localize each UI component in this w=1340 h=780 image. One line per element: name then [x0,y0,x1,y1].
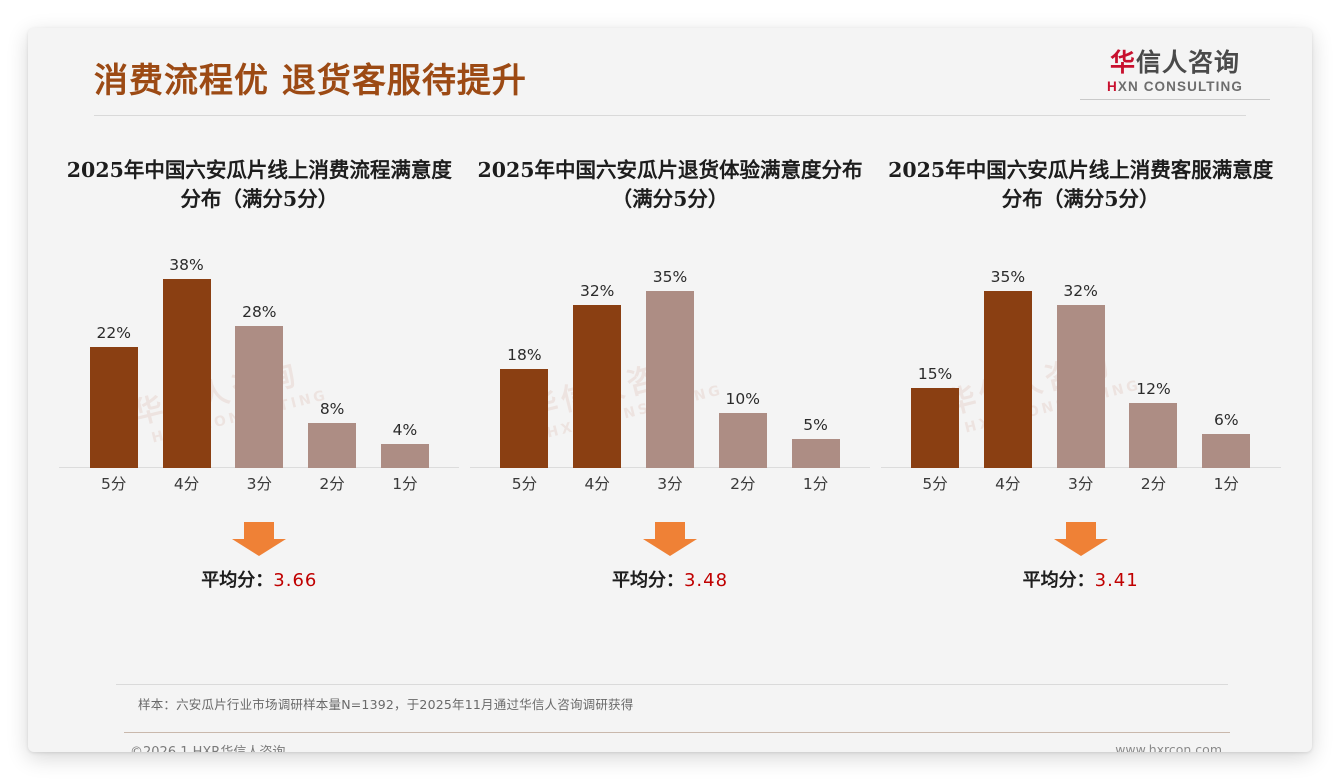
bar-item[interactable]: 12% [1119,256,1188,468]
x-axis-labels: 5分 4分 3分 2分 1分 [488,472,852,500]
average-label: 平均分： [612,570,684,591]
x-tick-label: 2分 [298,472,367,500]
bar[interactable] [163,279,211,468]
average-score: 平均分：3.48 [470,566,870,592]
bar-value-label: 32% [580,282,614,300]
bar[interactable] [719,413,767,468]
bar-value-label: 28% [242,303,276,321]
chart-title: 2025年中国六安瓜片退货体验满意度分布（满分5分） [470,156,870,214]
bar[interactable] [235,326,283,468]
bar[interactable] [381,444,429,468]
footer-divider [124,732,1230,733]
bar-item[interactable]: 32% [1046,256,1115,468]
bar-item[interactable]: 15% [900,256,969,468]
bar-value-label: 38% [169,256,203,274]
chart-title: 2025年中国六安瓜片线上消费流程满意度分布（满分5分） [59,156,459,214]
average-label: 平均分： [201,570,273,591]
logo-cn-highlight: 华 [1110,48,1136,77]
average-label: 平均分： [1023,570,1095,591]
bar[interactable] [1057,305,1105,468]
bar[interactable] [911,388,959,468]
average-score: 平均分：3.66 [59,566,459,592]
slide-card: 消费流程优 退货客服待提升 华信人咨询 HXN CONSULTING 华信人咨询… [28,28,1312,752]
bar-item[interactable]: 18% [490,256,559,468]
down-arrow-icon [1054,522,1108,556]
footnote-divider [116,684,1228,685]
average-score: 平均分：3.41 [881,566,1281,592]
bar-item[interactable]: 8% [298,256,367,468]
x-tick-label: 3分 [1046,472,1115,500]
x-tick-label: 2分 [708,472,777,500]
bar-value-label: 35% [653,268,687,286]
bars-container: 18% 32% 35% 10% [488,256,852,468]
bar-value-label: 18% [507,346,541,364]
logo-underline [1080,99,1270,100]
bar[interactable] [1129,403,1177,468]
bar-value-label: 35% [991,268,1025,286]
logo-en-rest: XN CONSULTING [1118,79,1243,94]
slide-header: 消费流程优 退货客服待提升 华信人咨询 HXN CONSULTING [28,28,1312,120]
x-tick-label: 1分 [1192,472,1261,500]
bar[interactable] [573,305,621,468]
bar-value-label: 4% [393,421,418,439]
x-tick-label: 2分 [1119,472,1188,500]
bar-chart-plot: 18% 32% 35% 10% [470,256,870,506]
down-arrow-icon [643,522,697,556]
bars-container: 15% 35% 32% 12% [899,256,1263,468]
bar-item[interactable]: 4% [370,256,439,468]
x-axis-labels: 5分 4分 3分 2分 1分 [77,472,441,500]
x-tick-label: 5分 [490,472,559,500]
average-value: 3.48 [684,570,728,591]
x-tick-label: 4分 [152,472,221,500]
x-tick-label: 5分 [900,472,969,500]
average-value: 3.66 [273,570,317,591]
chart-panel-1: 华信人咨询 HXN CONSULTING 2025年中国六安瓜片线上消费流程满意… [54,156,465,666]
x-tick-label: 1分 [781,472,850,500]
chart-title: 2025年中国六安瓜片线上消费客服满意度分布（满分5分） [881,156,1281,214]
bar[interactable] [500,369,548,468]
x-tick-label: 5分 [79,472,148,500]
header-divider [94,115,1246,116]
bar-item[interactable]: 35% [635,256,704,468]
average-value: 3.41 [1095,570,1139,591]
bar-value-label: 8% [320,400,345,418]
bar-value-label: 6% [1214,411,1239,429]
bar[interactable] [1202,434,1250,468]
company-logo: 华信人咨询 HXN CONSULTING [1080,50,1270,100]
bar-item[interactable]: 38% [152,256,221,468]
bar-item[interactable]: 32% [563,256,632,468]
bar-value-label: 32% [1063,282,1097,300]
bar-value-label: 5% [803,416,828,434]
bar-chart-plot: 22% 38% 28% 8% [59,256,459,506]
bar-value-label: 15% [918,365,952,383]
arrow-wrapper [881,522,1281,556]
bar-item[interactable]: 10% [708,256,777,468]
logo-chinese-text: 华信人咨询 [1080,50,1270,76]
bar-item[interactable]: 6% [1192,256,1261,468]
bar-value-label: 10% [726,390,760,408]
charts-row: 华信人咨询 HXN CONSULTING 2025年中国六安瓜片线上消费流程满意… [54,156,1286,666]
x-tick-label: 3分 [635,472,704,500]
copyright-text: ©2026.1 HXR华信人咨询 [130,741,285,752]
bars-container: 22% 38% 28% 8% [77,256,441,468]
x-axis-labels: 5分 4分 3分 2分 1分 [899,472,1263,500]
bar-chart-plot: 15% 35% 32% 12% [881,256,1281,506]
bar-value-label: 22% [96,324,130,342]
bar-value-label: 12% [1136,380,1170,398]
logo-english-text: HXN CONSULTING [1080,79,1270,94]
x-tick-label: 3分 [225,472,294,500]
arrow-wrapper [470,522,870,556]
bar-item[interactable]: 28% [225,256,294,468]
x-tick-label: 4分 [563,472,632,500]
chart-panel-3: 华信人咨询 HXN CONSULTING 2025年中国六安瓜片线上消费客服满意… [875,156,1286,666]
bar[interactable] [90,347,138,468]
bar-item[interactable]: 22% [79,256,148,468]
website-url[interactable]: www.hxrcon.com [1115,742,1222,752]
arrow-wrapper [59,522,459,556]
bar[interactable] [646,291,694,468]
bar[interactable] [984,291,1032,468]
x-tick-label: 1分 [370,472,439,500]
page-title: 消费流程优 退货客服待提升 [94,53,527,102]
chart-panel-2: 华信人咨询 HXN CONSULTING 2025年中国六安瓜片退货体验满意度分… [465,156,876,666]
bar-item[interactable]: 35% [973,256,1042,468]
logo-en-highlight: H [1107,79,1118,94]
sample-footnote: 样本：六安瓜片行业市场调研样本量N=1392，于2025年11月通过华信人咨询调… [138,694,633,713]
x-tick-label: 4分 [973,472,1042,500]
down-arrow-icon [232,522,286,556]
bar[interactable] [308,423,356,468]
bar-item[interactable]: 5% [781,256,850,468]
bar[interactable] [792,439,840,468]
logo-cn-rest: 信人咨询 [1136,48,1240,77]
